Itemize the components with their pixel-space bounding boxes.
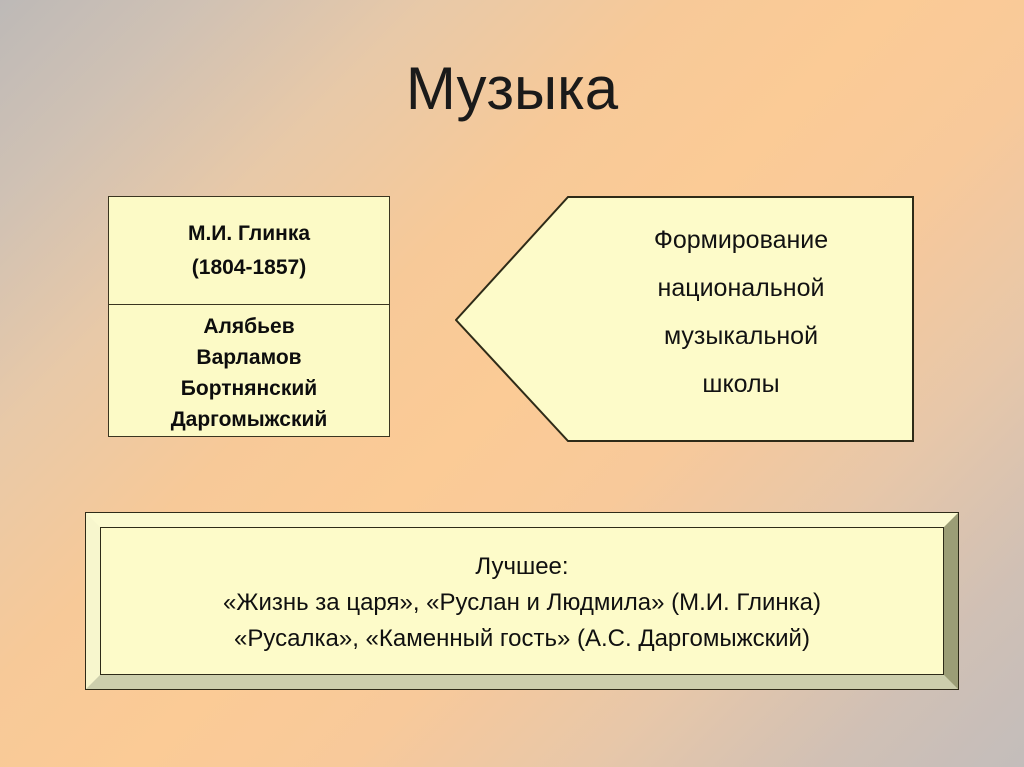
best-line-3: «Русалка», «Каменный гость» (А.С. Даргом…	[105, 621, 939, 657]
best-works-text: Лучшее: «Жизнь за царя», «Руслан и Людми…	[105, 549, 939, 657]
best-line-2: «Жизнь за царя», «Руслан и Людмила» (М.И…	[105, 585, 939, 621]
glinka-dates: (1804-1857)	[109, 251, 389, 285]
formation-line-1: Формирование	[568, 216, 914, 264]
formation-arrow-label: Формирование национальной музыкальной шк…	[568, 216, 914, 408]
list-item: Даргомыжский	[109, 404, 389, 435]
list-item: Алябьев	[109, 311, 389, 342]
list-item: Варламов	[109, 342, 389, 373]
best-works-banner: Лучшее: «Жизнь за царя», «Руслан и Людми…	[85, 512, 959, 690]
slide-canvas: Музыка М.И. Глинка (1804-1857) Алябьев В…	[0, 0, 1024, 767]
table-row-composers: Алябьев Варламов Бортнянский Даргомыжски…	[109, 305, 389, 435]
formation-line-4: школы	[568, 360, 914, 408]
table-row-glinka: М.И. Глинка (1804-1857)	[109, 197, 389, 305]
best-line-1: Лучшее:	[105, 549, 939, 585]
formation-line-3: музыкальной	[568, 312, 914, 360]
page-title: Музыка	[0, 54, 1024, 124]
list-item: Бортнянский	[109, 373, 389, 404]
glinka-name: М.И. Глинка	[109, 217, 389, 251]
composer-table: М.И. Глинка (1804-1857) Алябьев Варламов…	[108, 196, 390, 437]
formation-line-2: национальной	[568, 264, 914, 312]
